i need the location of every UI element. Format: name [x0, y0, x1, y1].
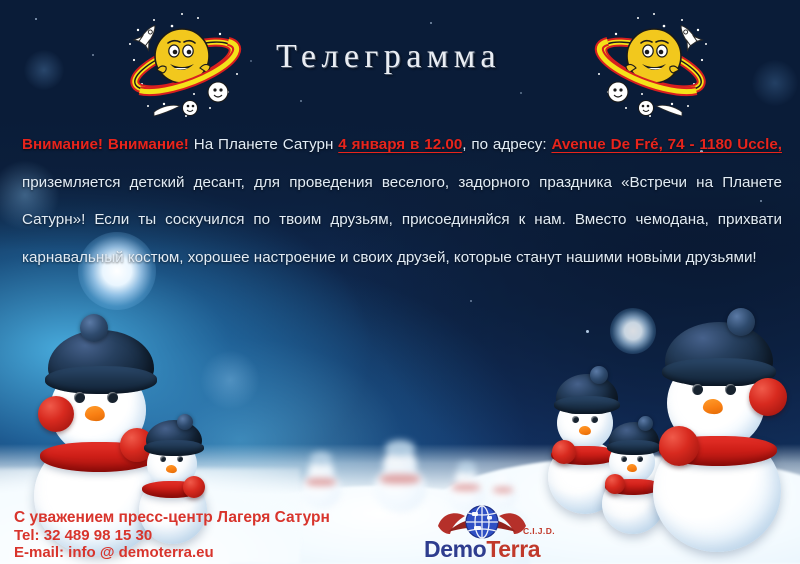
- star: [430, 22, 432, 24]
- saturn-mascot-right: [588, 8, 712, 126]
- sky-glow-center: [200, 350, 260, 410]
- comet-icon: [154, 105, 180, 116]
- announcement-segment-5: приземляется детский десант, для проведе…: [22, 174, 782, 266]
- announcement-text: Внимание! Внимание! На Планете Сатурн 4 …: [22, 126, 782, 276]
- announcement-segment-4: Avenue De Fré, 74 - 1180 Uccle,: [551, 136, 782, 153]
- earmuff-right: [749, 378, 787, 416]
- star: [35, 18, 37, 20]
- saturn-mascot-left: [124, 8, 248, 126]
- telegram-poster: Телеграмма Внимание! Внимание! На Планет…: [0, 0, 800, 564]
- star: [300, 100, 302, 102]
- announcement-segment-0: Внимание! Внимание!: [22, 136, 189, 153]
- sky-glow-upper: [24, 50, 64, 90]
- star: [92, 54, 94, 56]
- announcement-segment-2: 4 января в 12.00: [338, 136, 462, 153]
- footer-signature: С уважением пресс-центр Лагеря Сатурн: [14, 509, 330, 527]
- star: [470, 300, 472, 302]
- footer-phone: Tel: 32 489 98 15 30: [14, 527, 330, 545]
- footer-email: E-mail: info @ demoterra.eu: [14, 544, 330, 562]
- background-snowman: [298, 452, 344, 508]
- logo-tagline: C.I.J.D.: [523, 526, 555, 536]
- snowman-large-right: [645, 326, 795, 552]
- sky-glow-right: [752, 60, 798, 106]
- logo-wordmark: DemoTerra: [424, 536, 540, 563]
- background-snowman: [370, 440, 430, 510]
- logo-word-terra: Terra: [486, 536, 540, 562]
- moon-face-icon: [208, 82, 228, 102]
- moon-face-icon: [639, 101, 654, 116]
- comet-icon: [656, 105, 682, 116]
- footer-contact-block: С уважением пресс-центр Лагеря Сатурн Te…: [14, 509, 330, 562]
- logo-word-demo: Demo: [424, 536, 486, 562]
- announcement-segment-3: , по адресу:: [462, 136, 551, 153]
- star: [586, 330, 589, 333]
- announcement-segment-1: На Планете Сатурн: [189, 136, 338, 153]
- moon-face-icon: [608, 82, 628, 102]
- page-title: Телеграмма: [276, 38, 501, 76]
- star: [520, 92, 522, 94]
- demoterra-logo[interactable]: DemoTerra C.I.J.D.: [424, 506, 549, 562]
- moon-face-icon: [183, 101, 198, 116]
- star: [250, 60, 252, 62]
